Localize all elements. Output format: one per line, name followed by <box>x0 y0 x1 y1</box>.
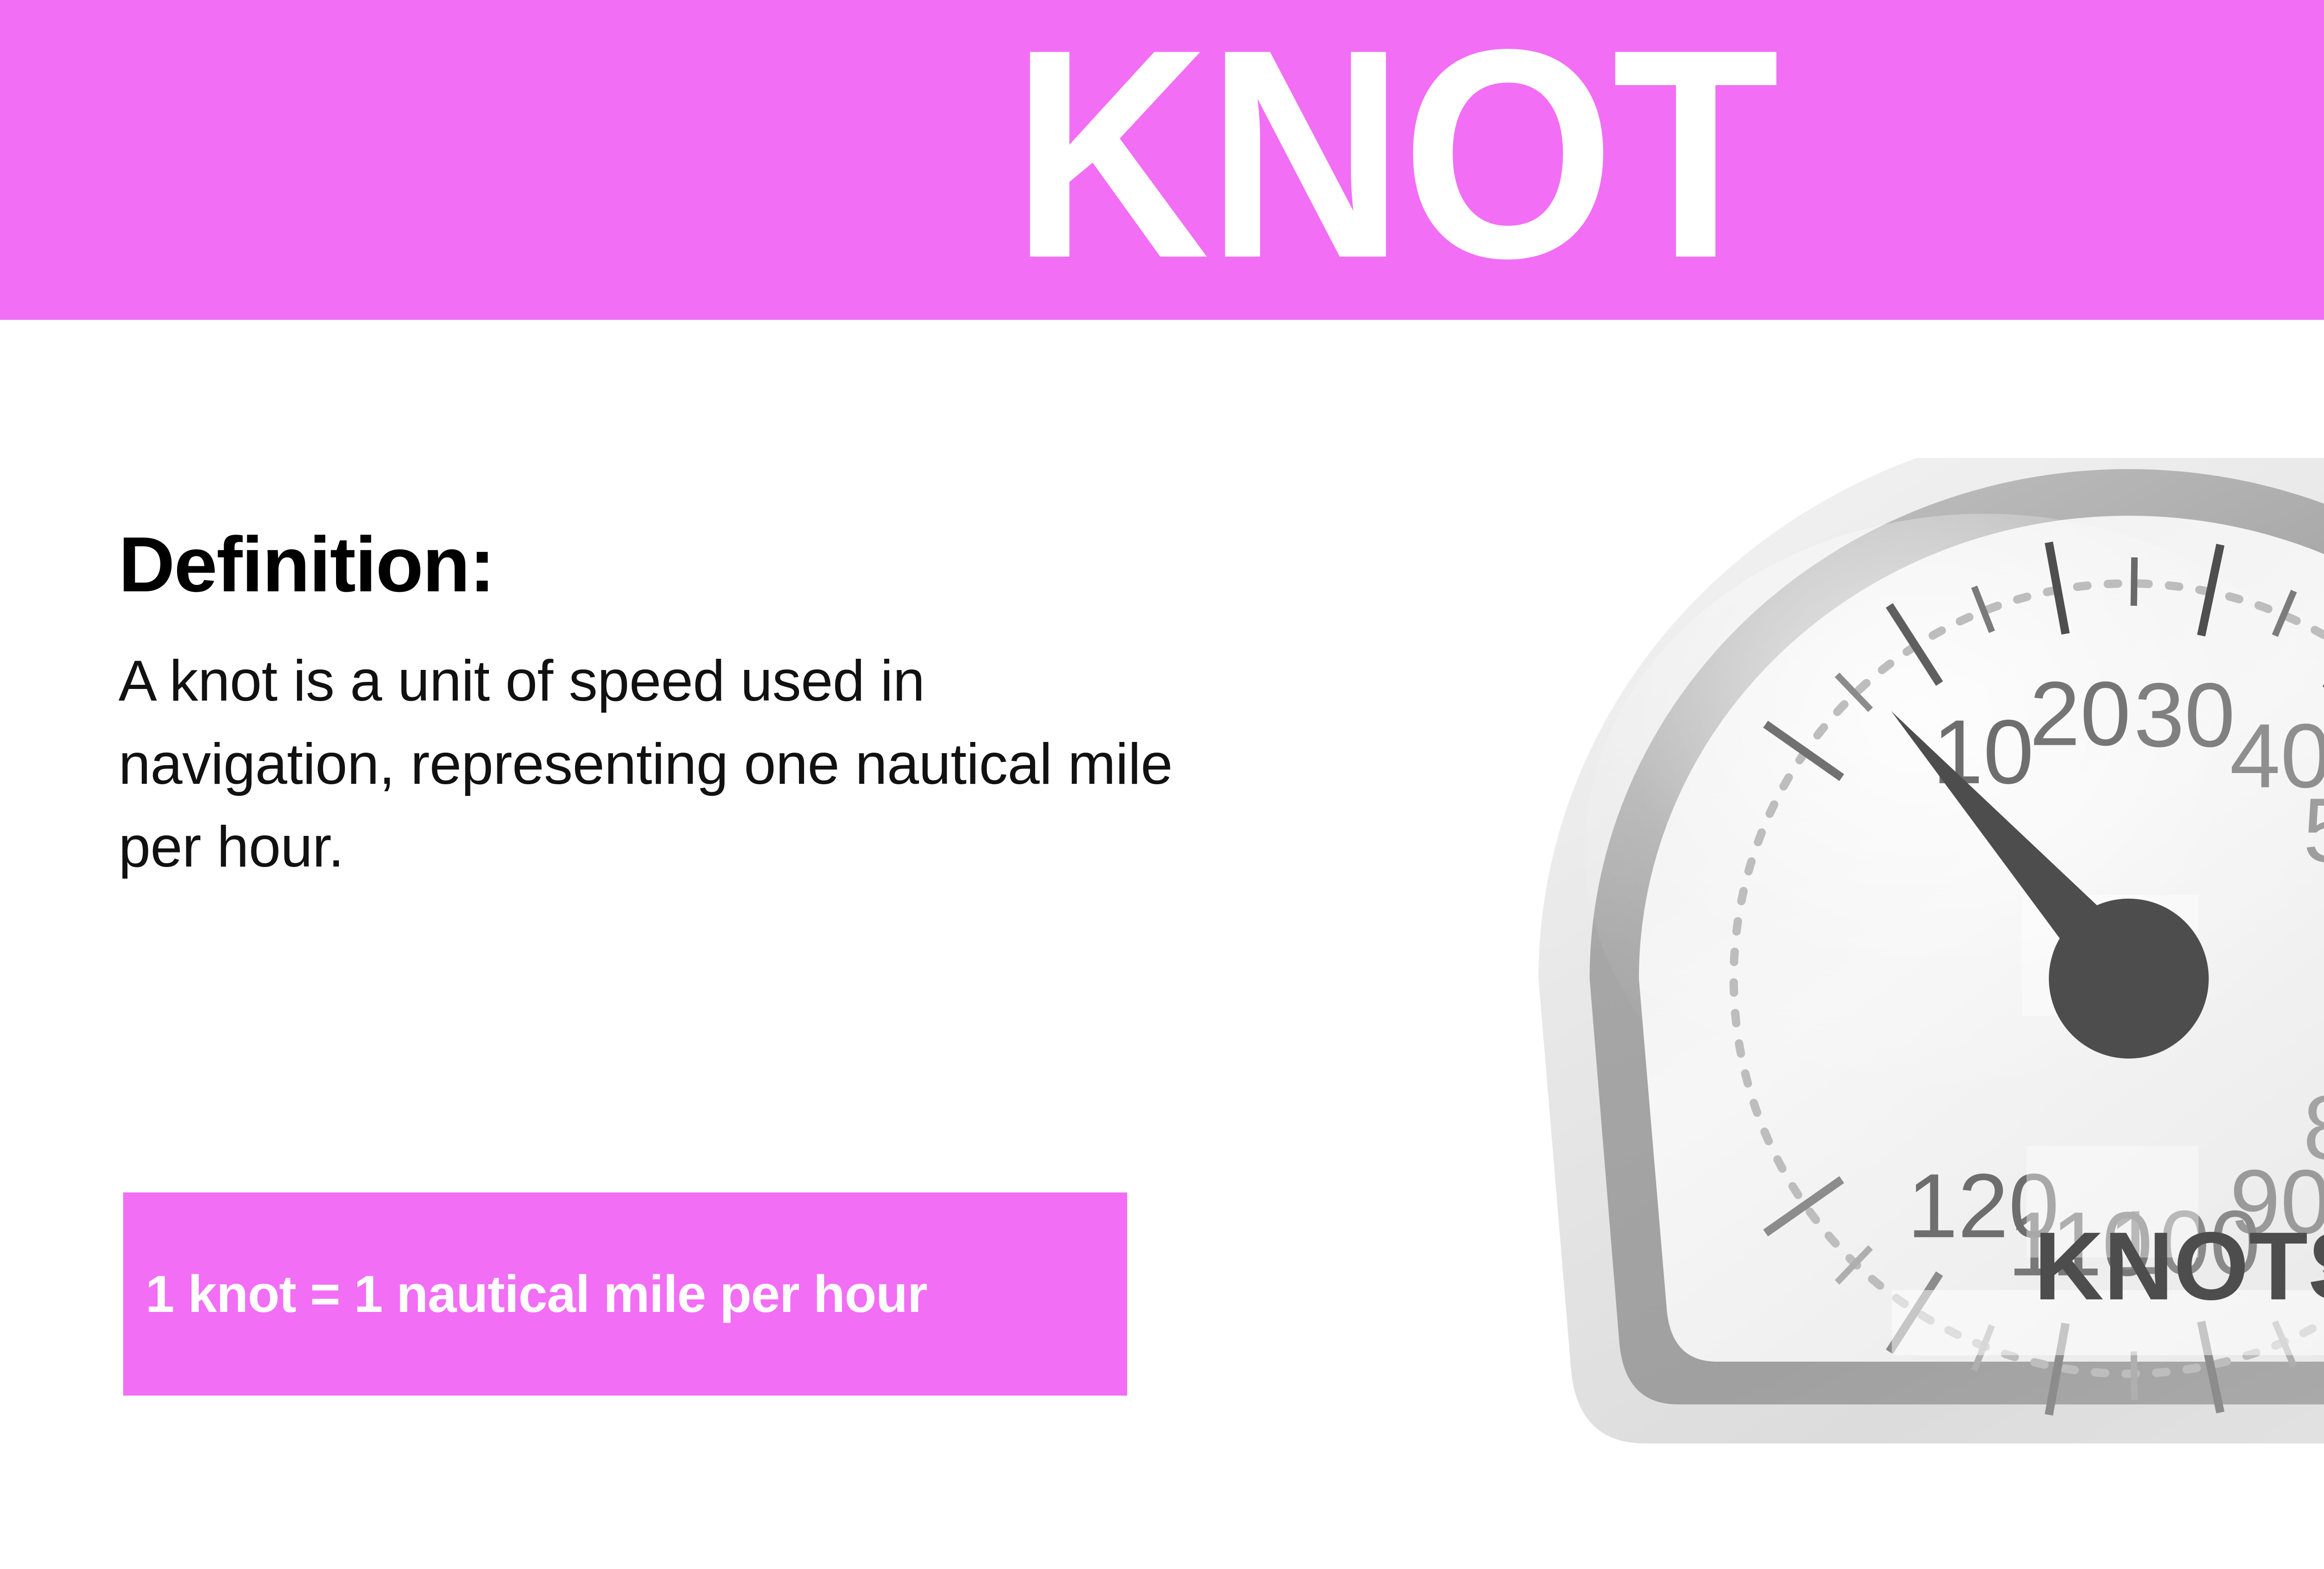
gauge-minor-tick <box>2134 1351 2134 1400</box>
definition-body-text: A knot is a unit of speed used in naviga… <box>119 640 1373 889</box>
gauge-scale-label: 50 <box>2303 779 2324 881</box>
definition-section: Definition: A knot is a unit of speed us… <box>119 525 1373 889</box>
gauge-scale-label: 10 <box>1933 701 2034 803</box>
definition-heading: Definition: <box>119 525 1373 603</box>
speedometer-gauge: 102030405060708090100110120 KNOTS <box>1520 458 2324 1471</box>
page-title: KNOT <box>1012 23 1777 285</box>
page-banner: KNOT <box>0 0 2324 320</box>
gauge-minor-tick <box>2134 557 2134 606</box>
gauge-unit-label: KNOTS <box>2034 1212 2324 1320</box>
gauge-needle-hub <box>2049 899 2209 1059</box>
conversion-fact-text: 1 knot = 1 nautical mile per hour <box>123 1264 927 1324</box>
conversion-fact-badge: 1 knot = 1 nautical mile per hour <box>123 1192 1127 1396</box>
gauge-scale-label: 20 <box>2029 663 2131 765</box>
gauge-svg: 102030405060708090100110120 KNOTS <box>1520 458 2324 1471</box>
gauge-scale-label: 30 <box>2134 664 2235 766</box>
